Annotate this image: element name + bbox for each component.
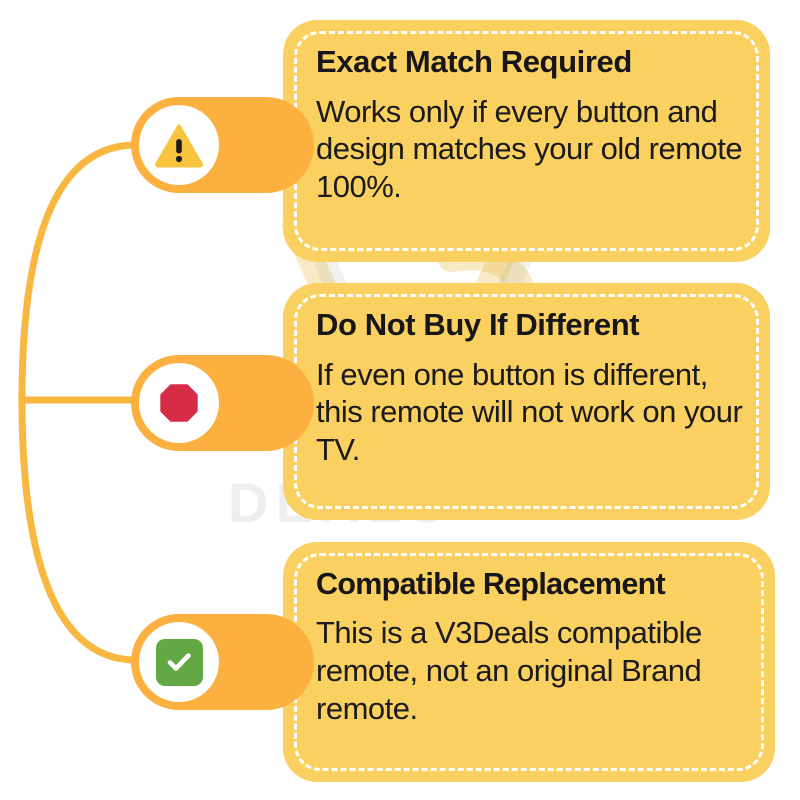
card-title: Do Not Buy If Different <box>316 309 744 342</box>
icon-badge-stop <box>131 355 314 451</box>
connector-branch-bottom <box>22 400 136 660</box>
card-compatible-replacement: Compatible Replacement This is a V3Deals… <box>283 542 775 782</box>
card-body: Works only if every button and design ma… <box>316 93 744 206</box>
card-title: Exact Match Required <box>316 46 744 79</box>
checkmark-glyph <box>164 647 194 677</box>
icon-badge-warning <box>131 97 314 193</box>
card-title: Compatible Replacement <box>316 568 749 600</box>
icon-badge-check <box>131 614 314 710</box>
infographic-root: DEALS Exact Match Required Works only if… <box>0 0 800 800</box>
icon-circle <box>139 105 219 185</box>
check-square-icon <box>156 639 203 686</box>
card-body: This is a V3Deals compatible remote, not… <box>316 614 749 727</box>
card-do-not-buy-if-different: Do Not Buy If Different If even one butt… <box>283 283 770 520</box>
card-body: If even one button is different, this re… <box>316 356 744 469</box>
card-exact-match-required: Exact Match Required Works only if every… <box>283 20 770 262</box>
stop-octagon-icon <box>153 377 205 429</box>
warning-triangle-icon <box>153 119 205 171</box>
icon-circle <box>139 622 219 702</box>
connector-branch-top <box>22 145 136 400</box>
icon-circle <box>139 363 219 443</box>
